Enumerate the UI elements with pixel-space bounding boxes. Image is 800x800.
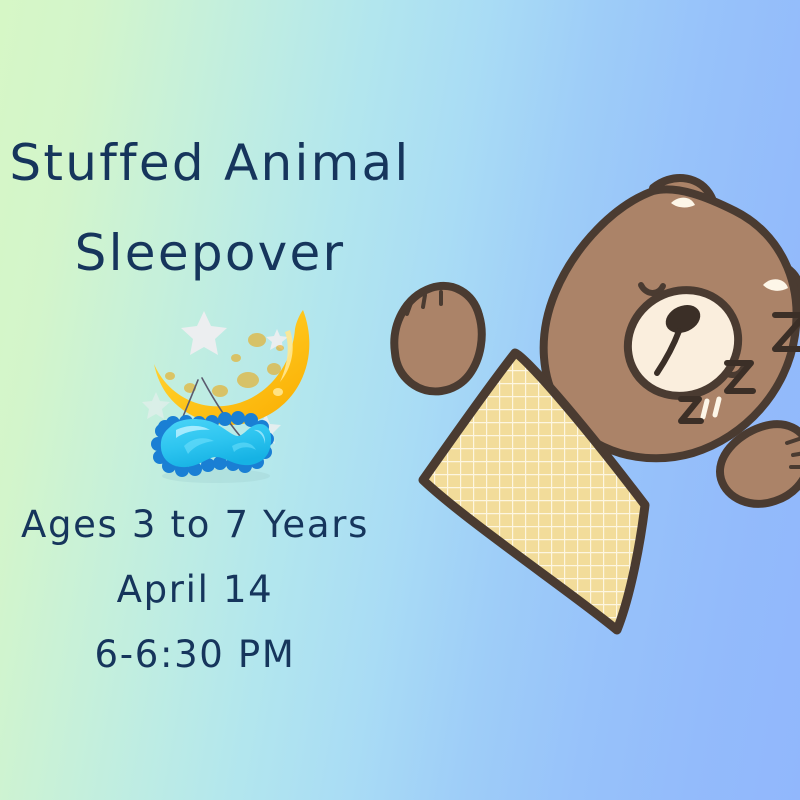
detail-ages: Ages 3 to 7 Years xyxy=(0,503,390,546)
page-title-line-2: Sleepover xyxy=(0,228,420,278)
star-icon xyxy=(181,311,227,355)
moon-craters xyxy=(165,333,284,397)
poster-canvas: Stuffed Animal Sleepover Ages 3 to 7 Yea… xyxy=(0,0,800,800)
crescent-moon-icon xyxy=(154,310,309,425)
page-title-line-1: Stuffed Animal xyxy=(0,138,420,188)
detail-date: April 14 xyxy=(0,568,390,611)
moon-and-sleep-mask-illustration xyxy=(140,296,330,486)
detail-time: 6-6:30 PM xyxy=(0,633,390,676)
sleeping-bear-illustration xyxy=(395,175,800,645)
sleep-mask-icon xyxy=(151,411,274,477)
bear-left-paw xyxy=(394,286,481,391)
star-icon xyxy=(142,392,170,419)
